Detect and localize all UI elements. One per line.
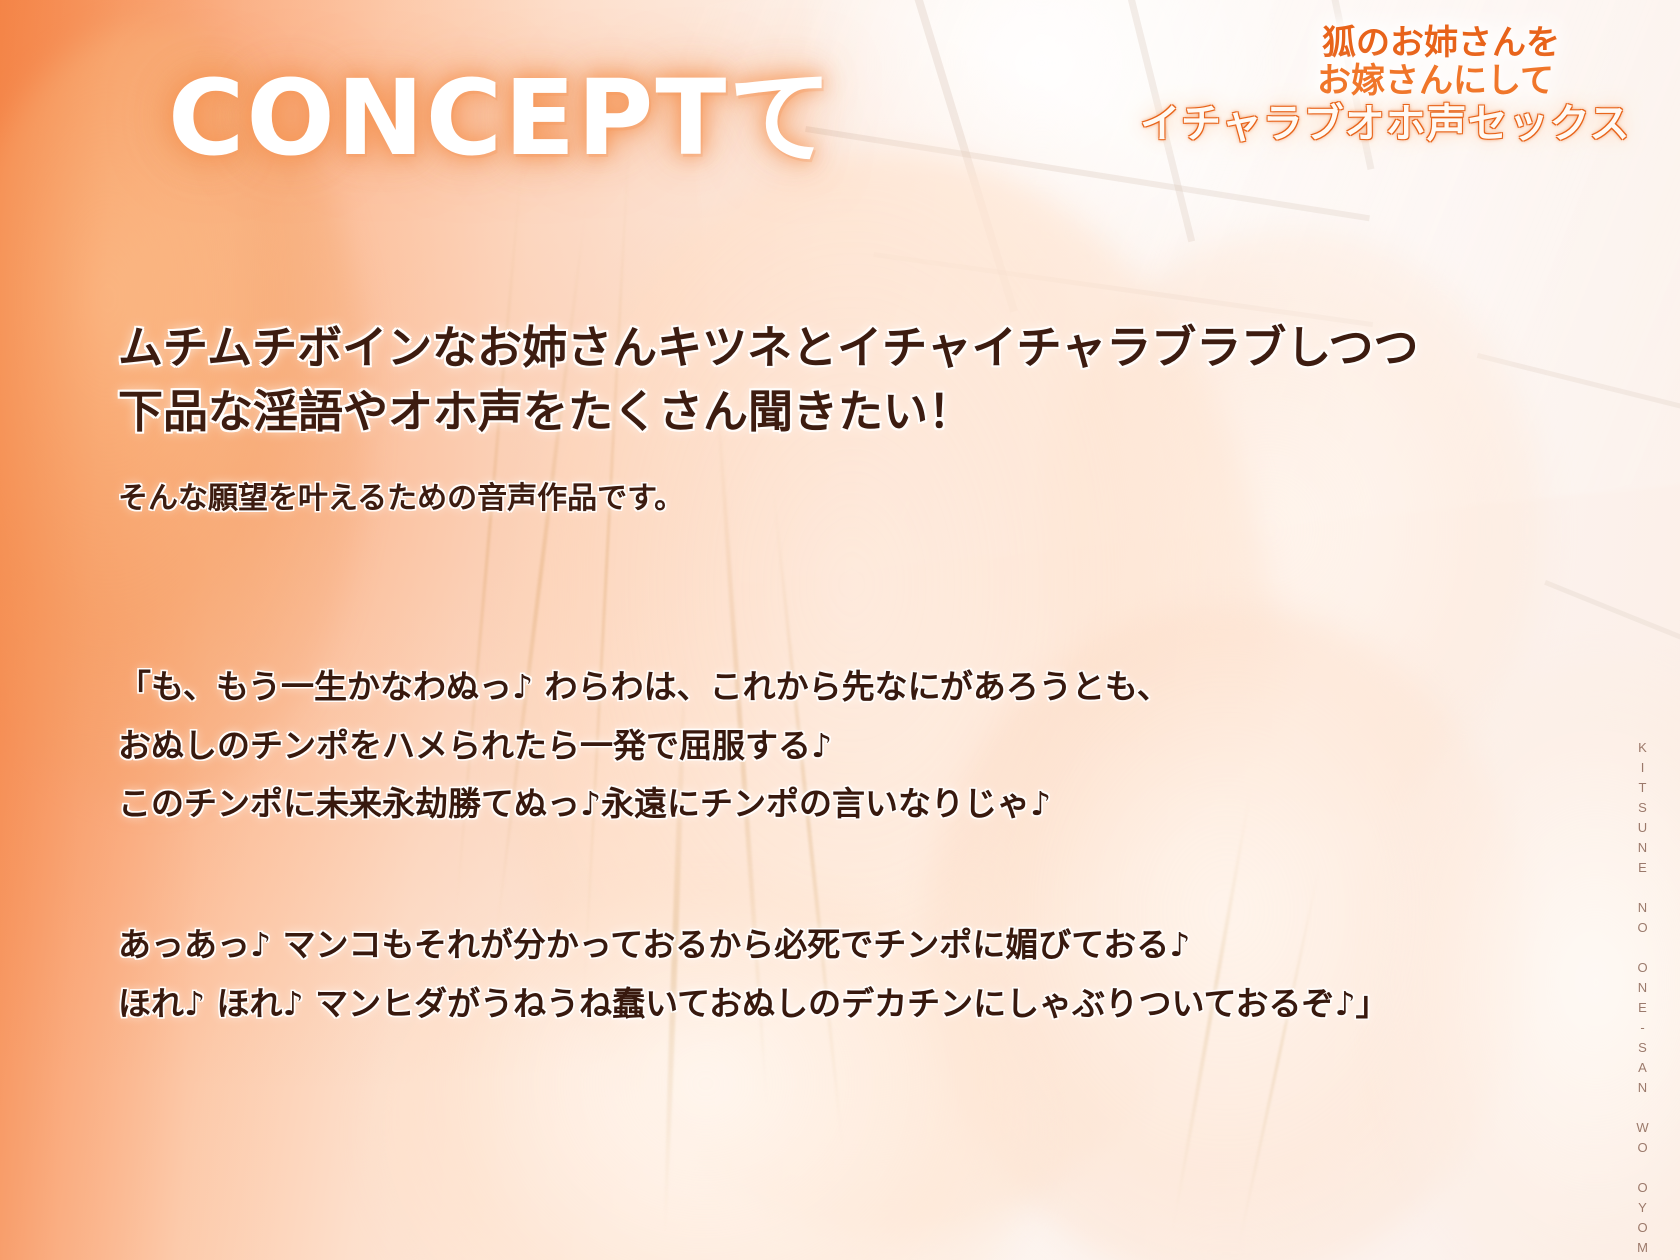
quote-line: 「も、もう一生かなわぬっ♪ わらわは、これから先なにがあろうとも、 bbox=[118, 658, 1518, 717]
promo-banner: CONCEPTて 狐のお姉さんを お嫁さんにして イチャラブオホ声セックス ムチ… bbox=[0, 0, 1680, 1260]
quote-line: このチンポに未来永劫勝てぬっ♪永遠にチンポの言いなりじゃ♪ bbox=[118, 775, 1518, 834]
sub-line: そんな願望を叶えるための音声作品です。 bbox=[118, 478, 1438, 520]
section-heading: CONCEPTて bbox=[168, 66, 834, 170]
lead-line: 下品な淫語やオホ声をたくさん聞きたい！ bbox=[118, 380, 1438, 444]
quote-block-secondary: あっあっ♪ マンコもそれが分かっておるから必死でチンポに媚びておる♪ ほれ♪ ほ… bbox=[118, 916, 1538, 1033]
lead-line: ムチムチボインなお姉さんキツネとイチャイチャラブラブしつつ bbox=[118, 316, 1438, 380]
title-logo-line-3: イチャラブオホ声セックス bbox=[1140, 103, 1560, 145]
artwork-corner-tint bbox=[0, 0, 1680, 1260]
side-romaji-title: KITSUNE NO ONE-SAN WO OYOME-SAN NI SITE … bbox=[1629, 740, 1654, 1170]
lead-copy-block: ムチムチボインなお姉さんキツネとイチャイチャラブラブしつつ 下品な淫語やオホ声を… bbox=[118, 316, 1438, 520]
quote-line: あっあっ♪ マンコもそれが分かっておるから必死でチンポに媚びておる♪ bbox=[118, 916, 1538, 975]
title-logo-line-2: お嫁さんにして bbox=[1140, 64, 1560, 100]
title-logo: 狐のお姉さんを お嫁さんにして イチャラブオホ声セックス bbox=[1140, 26, 1560, 145]
title-logo-line-1: 狐のお姉さんを bbox=[1140, 26, 1560, 62]
quote-line: おぬしのチンポをハメられたら一発で屈服する♪ bbox=[118, 717, 1518, 776]
quote-line: ほれ♪ ほれ♪ マンヒダがうねうね蠢いておぬしのデカチンにしゃぶりついておるぞ♪… bbox=[118, 975, 1538, 1034]
quote-block-primary: 「も、もう一生かなわぬっ♪ わらわは、これから先なにがあろうとも、 おぬしのチン… bbox=[118, 658, 1518, 834]
